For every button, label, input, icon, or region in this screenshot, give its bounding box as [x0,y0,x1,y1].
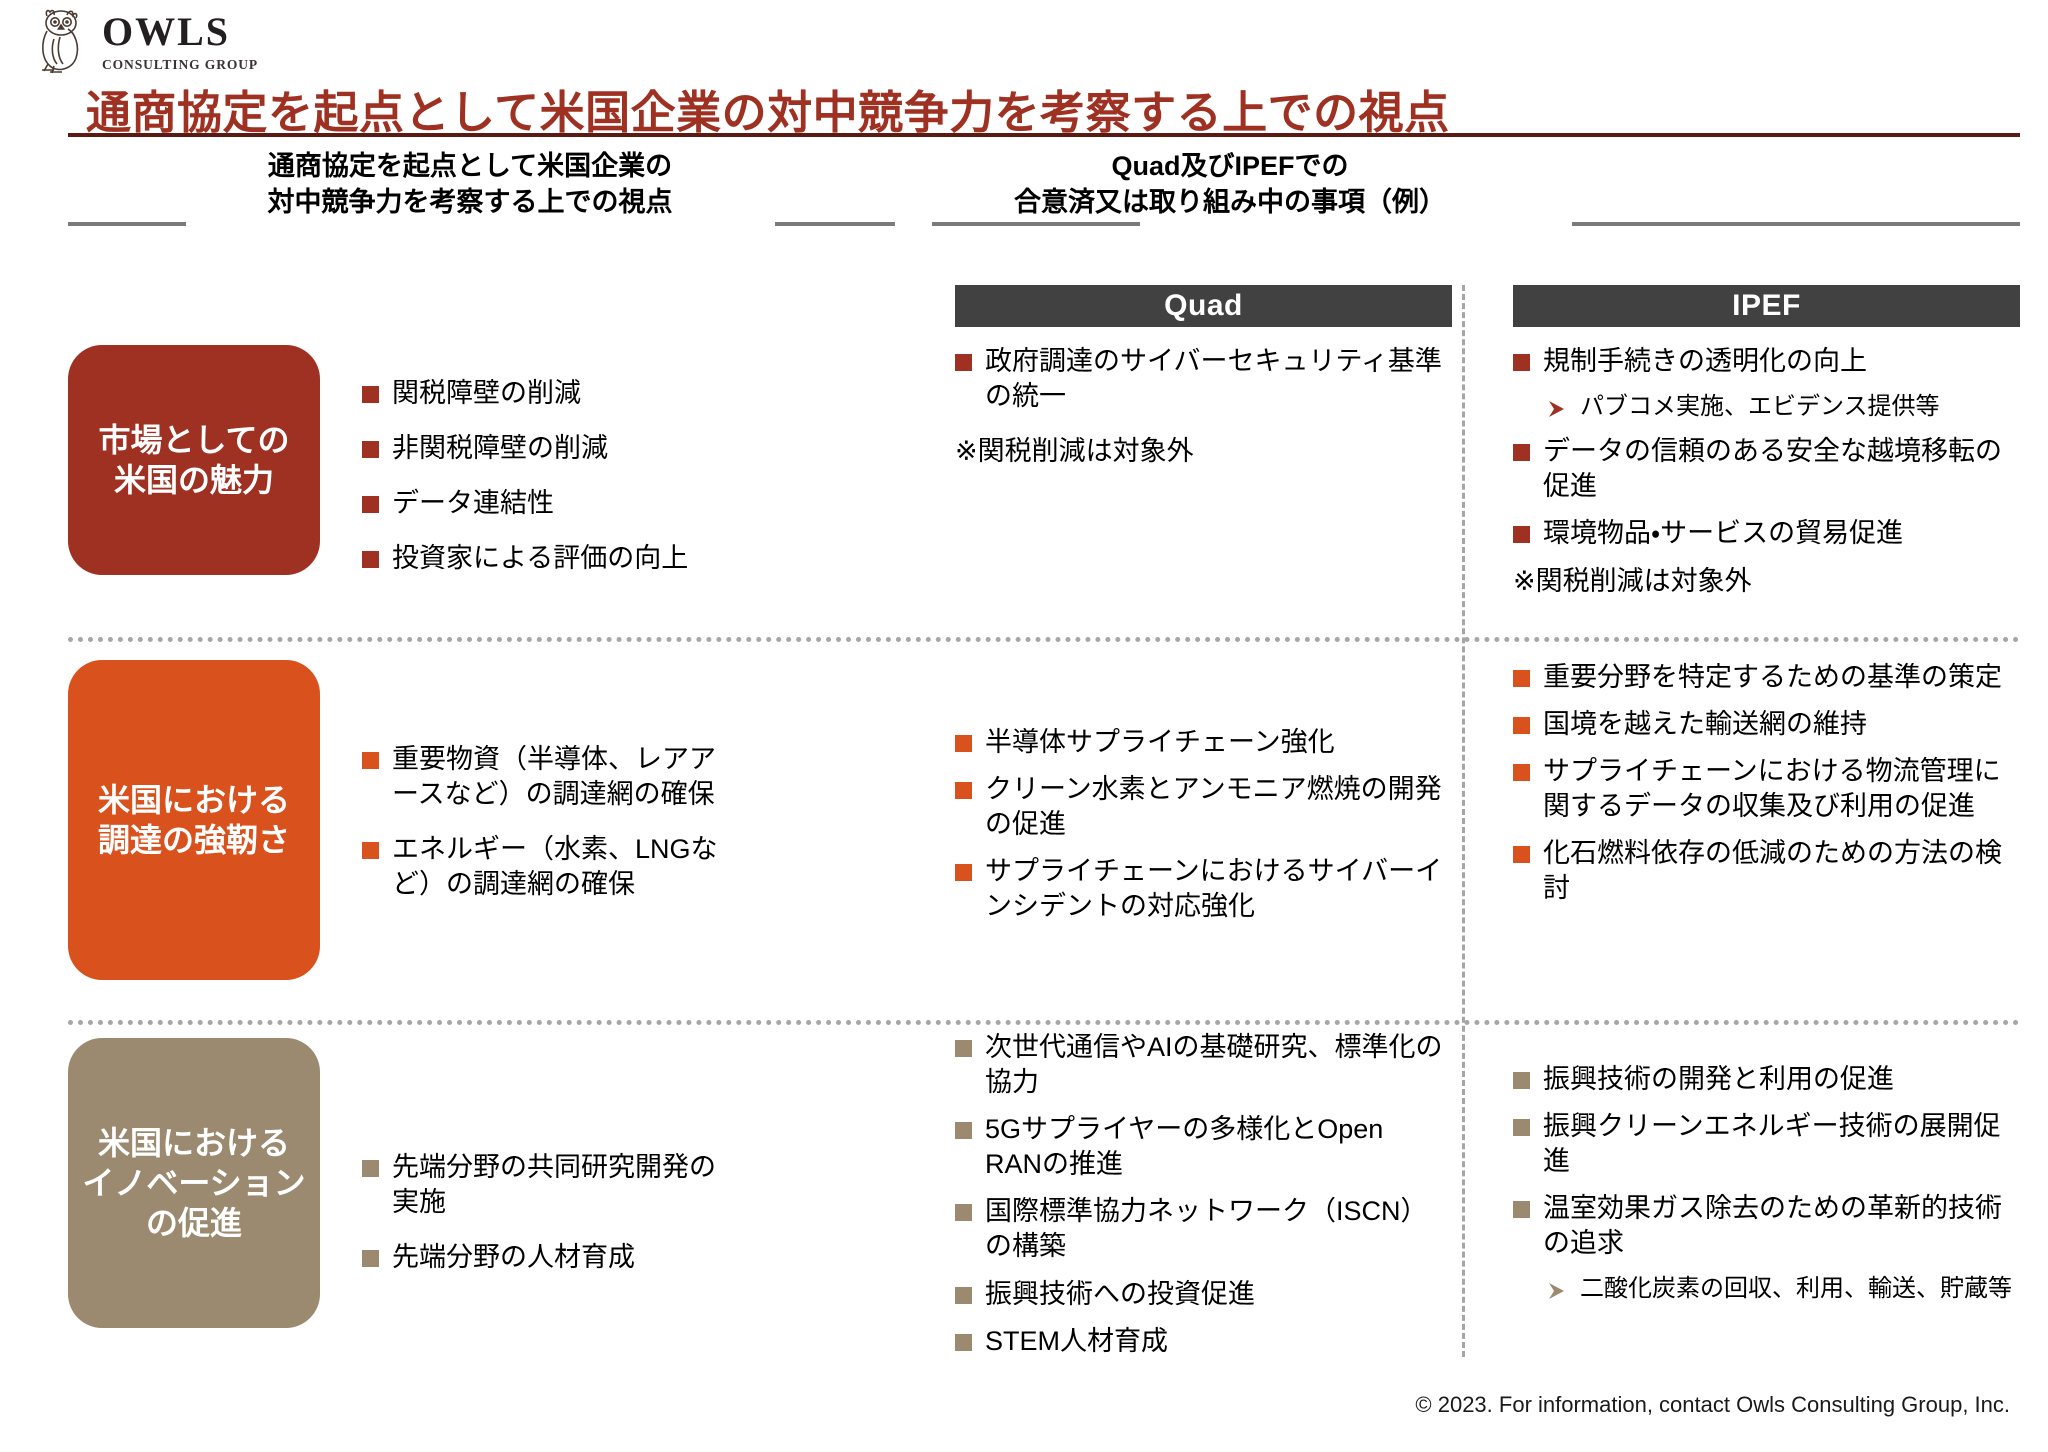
bullet-square-icon [1513,1072,1530,1089]
list-item: エネルギー（水素、LNGなど）の調達網の確保 [362,832,722,902]
slide-canvas: OWLS CONSULTING GROUP 通商協定を起点として米国企業の対中競… [0,0,2048,1452]
bullet-square-icon [955,1040,972,1057]
list-item: 政府調達のサイバーセキュリティ基準の統一 [955,344,1445,414]
logo-tagline: CONSULTING GROUP [102,57,258,73]
row3-quad-bullets: 次世代通信やAIの基礎研究、標準化の協力 5Gサプライヤーの多様化とOpen R… [955,1030,1445,1371]
bullet-square-icon [955,1287,972,1304]
list-item: 関税障壁の削減 [362,376,722,411]
list-item: データ連結性 [362,486,722,521]
bullet-square-icon [1513,354,1530,371]
left-section-header: 通商協定を起点として米国企業の 対中競争力を考察する上での視点 [190,148,750,220]
list-item: サプライチェーンにおける物流管理に関するデータの収集及び利用の促進 [1513,754,2023,824]
arrow-bullet-icon [1547,398,1567,420]
list-item-label: 次世代通信やAIの基礎研究、標準化の協力 [985,1030,1445,1100]
list-item: 環境物品・サービスの貿易促進 [1513,516,2023,551]
bullet-square-icon [955,1122,972,1139]
owl-icon [34,6,92,74]
bullet-square-icon [362,1250,379,1267]
bullet-square-icon [1513,764,1530,781]
bullet-square-icon [362,441,379,458]
logo-wordmark: OWLS CONSULTING GROUP [102,6,258,73]
bullet-square-icon [362,1160,379,1177]
list-item-label: 先端分野の人材育成 [392,1240,722,1275]
header-rule-segment-2 [775,222,895,226]
list-item-label: 国境を越えた輸送網の維持 [1543,707,2023,742]
list-item: 国際標準協力ネットワーク（ISCN）の構築 [955,1194,1445,1264]
list-item: 温室効果ガス除去のための革新的技術の追求 [1513,1191,2023,1261]
bullet-square-icon [1513,444,1530,461]
row3-ipef-bullets: 振興技術の開発と利用の促進 振興クリーンエネルギー技術の展開促進 温室効果ガス除… [1513,1062,2023,1317]
list-item: 重要物資（半導体、レアアースなど）の調達網の確保 [362,742,722,812]
bullet-square-icon [955,1334,972,1351]
list-item: STEM人材育成 [955,1324,1445,1359]
list-item: 先端分野の人材育成 [362,1240,722,1275]
copyright-footer: © 2023. For information, contact Owls Co… [1415,1392,2010,1418]
list-item-label: 温室効果ガス除去のための革新的技術の追求 [1543,1191,2023,1261]
left-section-header-line1: 通商協定を起点として米国企業の [190,148,750,184]
list-item: 先端分野の共同研究開発の実施 [362,1150,722,1220]
company-logo: OWLS CONSULTING GROUP [34,6,258,74]
sub-list-item-label: パブコメ実施、エビデンス提供等 [1580,391,2023,422]
category-row1-line1: 市場としての [98,420,289,460]
bullet-square-icon [362,551,379,568]
right-section-header-line2: 合意済又は取り組み中の事項（例） [880,184,1580,220]
row1-quad-note: ※関税削減は対象外 [955,434,1445,469]
right-section-header-line1: Quad及びIPEFでの [880,148,1580,184]
title-underline [68,133,2020,137]
list-item-label: クリーン水素とアンモニア燃焼の開発の促進 [985,772,1445,842]
bullet-square-icon [1513,846,1530,863]
header-rule-segment-4 [1572,222,2020,226]
list-item: 振興技術の開発と利用の促進 [1513,1062,2023,1097]
sub-list-item: パブコメ実施、エビデンス提供等 [1547,391,2023,422]
list-item-label: 国際標準協力ネットワーク（ISCN）の構築 [985,1194,1445,1264]
bullet-square-icon [362,842,379,859]
row2-ipef-bullets: 重要分野を特定するための基準の策定 国境を越えた輸送網の維持 サプライチェーンに… [1513,660,2023,919]
bullet-square-icon [1513,717,1530,734]
category-box-row3: 米国における イノベーション の促進 [68,1038,320,1328]
list-item-label: 化石燃料依存の低減のための方法の検討 [1543,836,2023,906]
left-section-header-line2: 対中競争力を考察する上での視点 [190,184,750,220]
row2-quad-bullets: 半導体サプライチェーン強化 クリーン水素とアンモニア燃焼の開発の促進 サプライチ… [955,725,1445,936]
bullet-square-icon [955,354,972,371]
list-item: データの信頼のある安全な越境移転の促進 [1513,434,2023,504]
list-item-label: 振興クリーンエネルギー技術の展開促進 [1543,1109,2023,1179]
list-item: サプライチェーンにおけるサイバーインシデントの対応強化 [955,854,1445,924]
sub-list-item: 二酸化炭素の回収、利用、輸送、貯蔵等 [1547,1273,2023,1304]
right-section-header: Quad及びIPEFでの 合意済又は取り組み中の事項（例） [880,148,1580,220]
column-header-quad: Quad [955,285,1452,327]
list-item: 非関税障壁の削減 [362,431,722,466]
list-item: 化石燃料依存の低減のための方法の検討 [1513,836,2023,906]
list-item: クリーン水素とアンモニア燃焼の開発の促進 [955,772,1445,842]
bullet-square-icon [1513,1119,1530,1136]
bullet-square-icon [362,386,379,403]
list-item: 半導体サプライチェーン強化 [955,725,1445,760]
category-row3-line3: の促進 [82,1203,305,1243]
list-item-label: 規制手続きの透明化の向上 [1543,344,2023,379]
row1-left-bullets: 関税障壁の削減 非関税障壁の削減 データ連結性 投資家による評価の向上 [362,376,722,596]
list-item: 次世代通信やAIの基礎研究、標準化の協力 [955,1030,1445,1100]
list-item-label: 投資家による評価の向上 [392,541,722,576]
list-item-label: エネルギー（水素、LNGなど）の調達網の確保 [392,832,722,902]
list-item-label: 政府調達のサイバーセキュリティ基準の統一 [985,344,1445,414]
row1-ipef-bullets: 規制手続きの透明化の向上 パブコメ実施、エビデンス提供等 データの信頼のある安全… [1513,344,2023,617]
list-item: 規制手続きの透明化の向上 [1513,344,2023,379]
list-item-label: 5Gサプライヤーの多様化とOpen RANの推進 [985,1112,1445,1182]
list-item: 重要分野を特定するための基準の策定 [1513,660,2023,695]
list-item-label: STEM人材育成 [985,1324,1445,1359]
category-row1-line2: 米国の魅力 [98,460,289,500]
row2-left-bullets: 重要物資（半導体、レアアースなど）の調達網の確保 エネルギー（水素、LNGなど）… [362,742,722,922]
list-item-label: サプライチェーンにおける物流管理に関するデータの収集及び利用の促進 [1543,754,2023,824]
header-rule-segment-1 [68,222,186,226]
list-item-label: サプライチェーンにおけるサイバーインシデントの対応強化 [985,854,1445,924]
category-box-row1: 市場としての 米国の魅力 [68,345,320,575]
row-divider-1 [68,637,2020,642]
list-item-label: 非関税障壁の削減 [392,431,722,466]
bullet-square-icon [955,782,972,799]
bullet-square-icon [1513,670,1530,687]
category-row3-line2: イノベーション [82,1163,305,1203]
header-rule-segment-3 [932,222,1140,226]
list-item: 振興クリーンエネルギー技術の展開促進 [1513,1109,2023,1179]
list-item: 国境を越えた輸送網の維持 [1513,707,2023,742]
column-header-ipef: IPEF [1513,285,2020,327]
list-item-label: データの信頼のある安全な越境移転の促進 [1543,434,2023,504]
list-item-label: データ連結性 [392,486,722,521]
category-row3-line1: 米国における [82,1123,305,1163]
row3-left-bullets: 先端分野の共同研究開発の実施 先端分野の人材育成 [362,1150,722,1295]
category-row2-line2: 調達の強靭さ [98,820,290,860]
bullet-square-icon [1513,1201,1530,1218]
row1-ipef-note: ※関税削減は対象外 [1513,564,2023,599]
logo-name: OWLS [102,12,258,52]
list-item-label: 関税障壁の削減 [392,376,722,411]
bullet-square-icon [955,1204,972,1221]
list-item-label: 重要物資（半導体、レアアースなど）の調達網の確保 [392,742,722,812]
bullet-square-icon [362,752,379,769]
page-title: 通商協定を起点として米国企業の対中競争力を考察する上での視点 [86,76,1450,141]
list-item-label: 振興技術の開発と利用の促進 [1543,1062,2023,1097]
bullet-square-icon [955,735,972,752]
list-item-label: 振興技術への投資促進 [985,1277,1445,1312]
category-box-row2: 米国における 調達の強靭さ [68,660,320,980]
list-item: 5Gサプライヤーの多様化とOpen RANの推進 [955,1112,1445,1182]
row-divider-2 [68,1020,2020,1025]
bullet-square-icon [1513,526,1530,543]
list-item: 投資家による評価の向上 [362,541,722,576]
bullet-square-icon [955,864,972,881]
list-item-label: 環境物品・サービスの貿易促進 [1543,516,2023,551]
list-item-label: 重要分野を特定するための基準の策定 [1543,660,2023,695]
category-row2-line1: 米国における [98,780,290,820]
list-item: 振興技術への投資促進 [955,1277,1445,1312]
list-item-label: 先端分野の共同研究開発の実施 [392,1150,722,1220]
sub-list-item-label: 二酸化炭素の回収、利用、輸送、貯蔵等 [1580,1273,2023,1304]
list-item-label: 半導体サプライチェーン強化 [985,725,1445,760]
bullet-square-icon [362,496,379,513]
vertical-divider [1462,285,1465,1357]
row1-quad-bullets: 政府調達のサイバーセキュリティ基準の統一 ※関税削減は対象外 [955,344,1445,487]
arrow-bullet-icon [1547,1280,1567,1302]
